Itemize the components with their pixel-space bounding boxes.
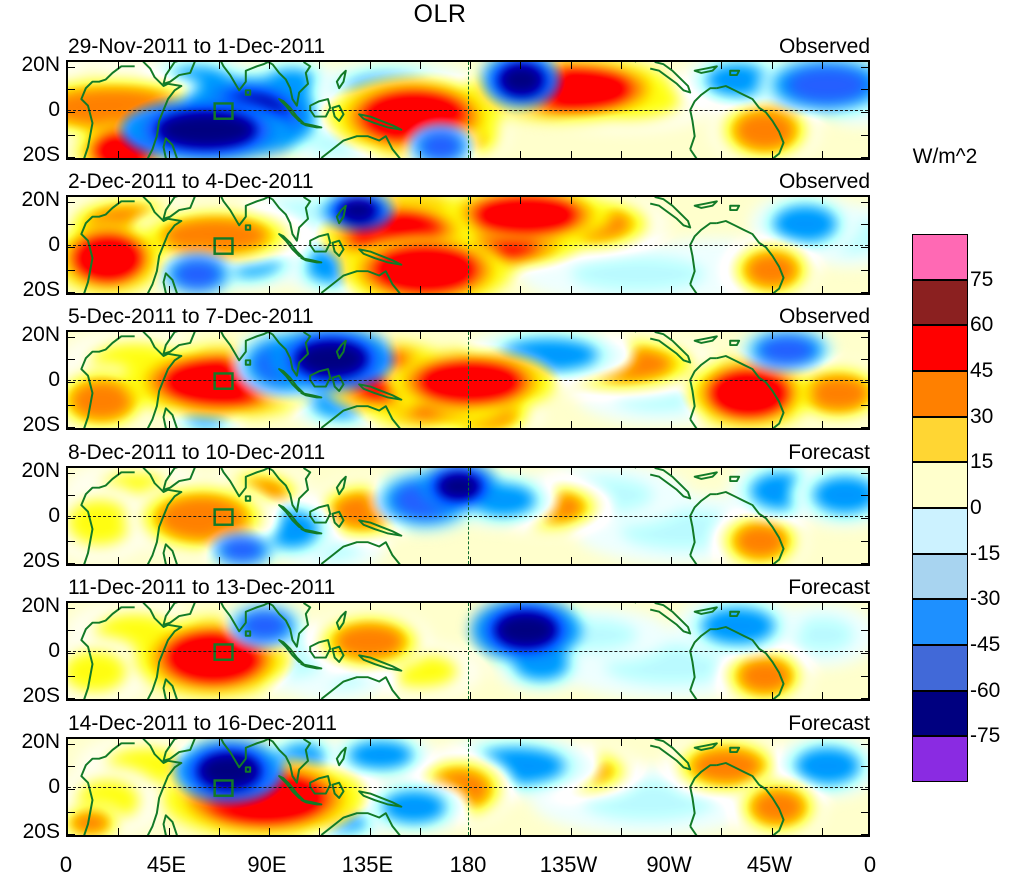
x-tick [571, 151, 572, 158]
y-tick [861, 630, 868, 631]
x-tick [621, 151, 622, 158]
x-tick [219, 739, 220, 746]
reference-box [215, 644, 233, 659]
dateline-meridian [468, 739, 469, 835]
x-tick [621, 197, 622, 204]
map-panel[interactable]: 11-Dec-2011 to 13-Dec-2011Forecast20N020… [66, 601, 870, 701]
x-tick [470, 151, 471, 158]
y-tick [68, 834, 75, 835]
x-tick [671, 468, 672, 475]
x-tick [219, 332, 220, 339]
y-axis-label: 20S [23, 143, 60, 167]
colorbar-tick-label: 75 [970, 268, 993, 292]
x-tick [520, 828, 521, 835]
x-tick [269, 62, 270, 69]
x-tick [319, 603, 320, 610]
x-tick [370, 62, 371, 69]
x-tick [721, 62, 722, 69]
panel-plot-area [66, 60, 870, 160]
x-tick [621, 62, 622, 69]
x-tick [721, 421, 722, 428]
x-tick [571, 557, 572, 564]
x-tick [370, 151, 371, 158]
x-tick [420, 692, 421, 699]
x-tick [520, 62, 521, 69]
y-tick [861, 112, 868, 113]
y-tick [68, 676, 75, 677]
colorbar-band[interactable] [912, 599, 968, 645]
x-tick [520, 332, 521, 339]
colorbar-band[interactable] [912, 736, 968, 782]
x-tick [470, 62, 471, 69]
page-title: OLR [0, 0, 880, 29]
x-tick [520, 603, 521, 610]
y-tick [68, 698, 75, 699]
x-tick [772, 286, 773, 293]
x-tick [118, 739, 119, 746]
y-tick [68, 292, 75, 293]
x-tick [219, 286, 220, 293]
colorbar[interactable]: 75604530150-15-30-45-60-75 [912, 234, 968, 782]
x-tick [470, 468, 471, 475]
x-tick [118, 151, 119, 158]
colorbar-tick-label: 60 [970, 313, 993, 337]
x-tick [822, 332, 823, 339]
x-tick [370, 692, 371, 699]
x-tick [772, 151, 773, 158]
colorbar-band[interactable] [912, 417, 968, 463]
x-tick [370, 468, 371, 475]
y-tick [861, 789, 868, 790]
y-tick [68, 427, 75, 428]
x-tick [219, 828, 220, 835]
x-tick [520, 468, 521, 475]
x-tick [319, 468, 320, 475]
y-tick [861, 518, 868, 519]
colorbar-band[interactable] [912, 325, 968, 371]
colorbar-tick-label: -75 [970, 724, 1000, 748]
x-tick [420, 739, 421, 746]
y-tick [861, 541, 868, 542]
y-tick [68, 67, 75, 68]
colorbar-unit-label: W/m^2 [890, 145, 1000, 169]
x-tick [118, 421, 119, 428]
y-tick [861, 744, 868, 745]
x-tick [269, 557, 270, 564]
y-tick [68, 789, 75, 790]
y-tick [68, 359, 75, 360]
map-panel[interactable]: 8-Dec-2011 to 10-Dec-2011Forecast20N020S [66, 466, 870, 566]
colorbar-band[interactable] [912, 554, 968, 600]
y-tick [68, 270, 75, 271]
colorbar-band[interactable] [912, 691, 968, 737]
x-tick [118, 828, 119, 835]
x-tick [772, 739, 773, 746]
y-axis-label: 20N [21, 188, 60, 212]
colorbar-tick-label: -30 [970, 587, 1000, 611]
x-tick [420, 151, 421, 158]
y-tick [68, 405, 75, 406]
y-tick [68, 382, 75, 383]
y-tick [68, 630, 75, 631]
x-tick [772, 468, 773, 475]
x-tick [822, 557, 823, 564]
y-tick [861, 67, 868, 68]
y-axis-label: 0 [48, 504, 60, 528]
y-tick [68, 89, 75, 90]
y-tick [861, 337, 868, 338]
x-tick [370, 739, 371, 746]
x-tick [420, 197, 421, 204]
y-tick [861, 698, 868, 699]
y-axis-label: 20S [23, 278, 60, 302]
x-tick [671, 603, 672, 610]
x-tick [370, 421, 371, 428]
x-tick [169, 828, 170, 835]
panel-date-range-label: 2-Dec-2011 to 4-Dec-2011 [68, 170, 314, 194]
x-tick [671, 692, 672, 699]
y-axis-label: 20S [23, 413, 60, 437]
panel-date-range-label: 29-Nov-2011 to 1-Dec-2011 [68, 35, 325, 59]
x-tick [269, 739, 270, 746]
y-axis-label: 0 [48, 775, 60, 799]
x-tick [269, 421, 270, 428]
x-tick [269, 286, 270, 293]
x-tick [721, 828, 722, 835]
y-tick [68, 766, 75, 767]
x-tick [169, 557, 170, 564]
x-tick [721, 151, 722, 158]
colorbar-band[interactable] [912, 508, 968, 554]
x-tick [721, 332, 722, 339]
x-tick [822, 603, 823, 610]
y-axis-label: 0 [48, 639, 60, 663]
dateline-meridian [468, 468, 469, 564]
colorbar-band[interactable] [912, 280, 968, 326]
x-tick [470, 332, 471, 339]
x-tick [169, 421, 170, 428]
x-axis-tick-label: 45E [147, 852, 186, 878]
x-axis-tick-label: 90E [247, 852, 286, 878]
x-tick [621, 828, 622, 835]
colorbar-band[interactable] [912, 234, 968, 280]
x-tick [269, 151, 270, 158]
x-tick [269, 332, 270, 339]
dateline-meridian [468, 332, 469, 428]
x-axis-tick-label: 0 [864, 852, 876, 878]
y-tick [68, 135, 75, 136]
x-tick [319, 332, 320, 339]
x-axis-tick-label: 90W [646, 852, 691, 878]
y-tick [861, 202, 868, 203]
x-tick [470, 421, 471, 428]
x-tick [772, 603, 773, 610]
x-tick [671, 286, 672, 293]
x-axis-tick-label: 0 [60, 852, 72, 878]
x-tick [772, 557, 773, 564]
x-tick [621, 557, 622, 564]
x-tick [169, 739, 170, 746]
y-tick [68, 653, 75, 654]
x-tick [219, 468, 220, 475]
x-tick [621, 421, 622, 428]
x-tick [772, 332, 773, 339]
reference-box [215, 373, 233, 388]
x-tick [269, 828, 270, 835]
y-tick [861, 224, 868, 225]
x-tick [118, 603, 119, 610]
x-tick [772, 62, 773, 69]
y-tick [861, 495, 868, 496]
y-axis-label: 0 [48, 368, 60, 392]
x-tick [621, 739, 622, 746]
x-tick [269, 692, 270, 699]
x-tick [219, 421, 220, 428]
x-tick [420, 557, 421, 564]
panel-plot-area [66, 195, 870, 295]
x-tick [671, 557, 672, 564]
x-tick [219, 692, 220, 699]
y-axis-label: 20S [23, 820, 60, 844]
x-tick [822, 692, 823, 699]
x-tick [721, 197, 722, 204]
x-tick [370, 557, 371, 564]
reference-box [215, 780, 233, 795]
x-tick [571, 739, 572, 746]
y-tick [68, 744, 75, 745]
x-tick [219, 603, 220, 610]
x-tick [822, 197, 823, 204]
colorbar-band[interactable] [912, 371, 968, 417]
x-tick [219, 557, 220, 564]
reference-box [215, 238, 233, 253]
x-tick [520, 692, 521, 699]
x-tick [822, 62, 823, 69]
x-tick [470, 197, 471, 204]
x-tick [420, 603, 421, 610]
y-axis-label: 20N [21, 594, 60, 618]
y-axis-label: 0 [48, 233, 60, 257]
x-tick [822, 151, 823, 158]
x-tick [571, 692, 572, 699]
colorbar-tick-label: 15 [970, 450, 993, 474]
x-tick [118, 62, 119, 69]
x-tick [822, 828, 823, 835]
y-tick [68, 224, 75, 225]
y-tick [861, 676, 868, 677]
x-axis-tick-label: 45W [747, 852, 792, 878]
y-tick [68, 112, 75, 113]
map-panel[interactable]: 14-Dec-2011 to 16-Dec-2011Forecast20N020… [66, 737, 870, 837]
panel-date-range-label: 5-Dec-2011 to 7-Dec-2011 [68, 305, 314, 329]
x-tick [721, 286, 722, 293]
x-tick [520, 197, 521, 204]
x-tick [520, 151, 521, 158]
x-tick [370, 332, 371, 339]
x-tick [721, 739, 722, 746]
x-tick [118, 332, 119, 339]
x-tick [822, 739, 823, 746]
x-tick [269, 468, 270, 475]
x-tick [319, 828, 320, 835]
y-tick [68, 518, 75, 519]
panel-plot-area [66, 737, 870, 837]
x-tick [772, 692, 773, 699]
x-tick [571, 197, 572, 204]
colorbar-tick-label: -60 [970, 679, 1000, 703]
y-tick [861, 563, 868, 564]
y-axis-label: 20S [23, 549, 60, 573]
y-tick [861, 473, 868, 474]
x-tick [118, 692, 119, 699]
x-tick [671, 197, 672, 204]
x-tick [169, 197, 170, 204]
x-tick [118, 286, 119, 293]
y-tick [861, 427, 868, 428]
x-tick [420, 828, 421, 835]
x-tick [721, 557, 722, 564]
x-tick [621, 468, 622, 475]
x-tick [621, 692, 622, 699]
y-tick [861, 270, 868, 271]
x-tick [169, 603, 170, 610]
x-axis-labels: 045E90E135E180135W90W45W0 [66, 852, 870, 882]
x-tick [420, 286, 421, 293]
x-tick [420, 468, 421, 475]
colorbar-tick-label: 30 [970, 405, 993, 429]
x-tick [571, 828, 572, 835]
y-tick [68, 202, 75, 203]
x-tick [671, 332, 672, 339]
colorbar-tick-label: 45 [970, 359, 993, 383]
colorbar-band[interactable] [912, 645, 968, 691]
x-tick [470, 557, 471, 564]
dateline-meridian [468, 603, 469, 699]
y-tick [861, 608, 868, 609]
x-tick [319, 151, 320, 158]
y-tick [861, 292, 868, 293]
colorbar-band[interactable] [912, 462, 968, 508]
y-tick [68, 157, 75, 158]
x-tick [118, 468, 119, 475]
y-tick [68, 247, 75, 248]
x-axis-tick-label: 135W [540, 852, 597, 878]
x-tick [671, 421, 672, 428]
x-tick [169, 332, 170, 339]
x-tick [621, 332, 622, 339]
panel-date-range-label: 11-Dec-2011 to 13-Dec-2011 [68, 576, 335, 600]
x-tick [822, 286, 823, 293]
x-tick [219, 62, 220, 69]
x-tick [470, 692, 471, 699]
panel-plot-area [66, 466, 870, 566]
x-tick [571, 62, 572, 69]
map-panel[interactable]: 2-Dec-2011 to 4-Dec-2011Observed20N020S [66, 195, 870, 295]
y-tick [861, 157, 868, 158]
x-tick [169, 286, 170, 293]
x-tick [319, 421, 320, 428]
panel-status-label: Observed [779, 170, 870, 194]
x-tick [470, 828, 471, 835]
x-tick [319, 197, 320, 204]
reference-box [215, 103, 233, 118]
x-tick [370, 603, 371, 610]
x-tick [169, 692, 170, 699]
y-tick [68, 541, 75, 542]
panel-status-label: Forecast [788, 576, 870, 600]
y-tick [861, 89, 868, 90]
x-tick [671, 151, 672, 158]
x-tick [370, 197, 371, 204]
panel-plot-area [66, 330, 870, 430]
x-tick [420, 421, 421, 428]
x-tick [319, 739, 320, 746]
y-tick [68, 495, 75, 496]
x-tick [721, 468, 722, 475]
x-tick [571, 421, 572, 428]
x-tick [470, 603, 471, 610]
y-tick [861, 135, 868, 136]
x-tick [420, 62, 421, 69]
panel-status-label: Observed [779, 305, 870, 329]
x-tick [420, 332, 421, 339]
y-tick [68, 608, 75, 609]
x-tick [319, 557, 320, 564]
y-tick [861, 405, 868, 406]
colorbar-tick-label: -15 [970, 542, 1000, 566]
dateline-meridian [468, 197, 469, 293]
x-tick [319, 692, 320, 699]
x-tick [169, 468, 170, 475]
colorbar-tick-label: 0 [970, 496, 982, 520]
x-tick [520, 286, 521, 293]
dateline-meridian [468, 62, 469, 158]
x-tick [721, 692, 722, 699]
panel-status-label: Forecast [788, 441, 870, 465]
x-tick [571, 603, 572, 610]
y-tick [861, 247, 868, 248]
x-tick [520, 421, 521, 428]
x-tick [822, 468, 823, 475]
x-tick [470, 739, 471, 746]
y-tick [861, 359, 868, 360]
x-tick [219, 197, 220, 204]
map-panel[interactable]: 29-Nov-2011 to 1-Dec-2011Observed20N020S [66, 60, 870, 160]
x-tick [671, 62, 672, 69]
y-tick [68, 473, 75, 474]
x-tick [319, 286, 320, 293]
panel-date-range-label: 14-Dec-2011 to 16-Dec-2011 [68, 712, 337, 736]
y-tick [68, 563, 75, 564]
x-tick [772, 421, 773, 428]
x-tick [721, 603, 722, 610]
x-tick [571, 468, 572, 475]
y-tick [861, 766, 868, 767]
x-tick [118, 557, 119, 564]
x-tick [370, 286, 371, 293]
panel-plot-area [66, 601, 870, 701]
y-axis-label: 20S [23, 684, 60, 708]
panel-date-range-label: 8-Dec-2011 to 10-Dec-2011 [68, 441, 325, 465]
y-axis-label: 20N [21, 53, 60, 77]
map-panel[interactable]: 5-Dec-2011 to 7-Dec-2011Observed20N020S [66, 330, 870, 430]
x-tick [319, 62, 320, 69]
y-tick [861, 834, 868, 835]
x-tick [169, 62, 170, 69]
y-tick [861, 812, 868, 813]
y-axis-label: 20N [21, 730, 60, 754]
x-tick [269, 197, 270, 204]
